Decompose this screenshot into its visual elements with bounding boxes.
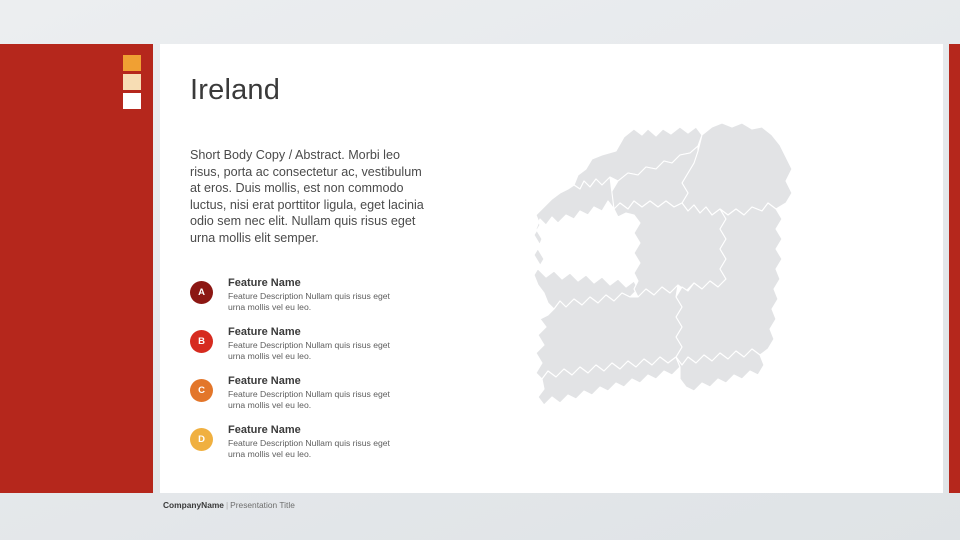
content-card: Ireland Short Body Copy / Abstract. Morb…	[160, 44, 943, 493]
footer-separator: |	[226, 500, 228, 510]
feature-description: Feature Description Nullam quis risus eg…	[228, 340, 408, 363]
page-title: Ireland	[190, 74, 280, 107]
feature-name: Feature Name	[228, 325, 440, 340]
list-item[interactable]: D Feature Name Feature Description Nulla…	[190, 423, 440, 462]
feature-badge-b: B	[190, 330, 213, 353]
presentation-slide: Ireland Short Body Copy / Abstract. Morb…	[0, 0, 960, 540]
feature-name: Feature Name	[228, 276, 440, 291]
feature-text: Feature Name Feature Description Nullam …	[228, 374, 440, 412]
feature-name: Feature Name	[228, 423, 440, 438]
feature-text: Feature Name Feature Description Nullam …	[228, 276, 440, 314]
body-copy: Short Body Copy / Abstract. Morbi leo ri…	[190, 147, 428, 247]
ireland-map[interactable]	[530, 89, 820, 434]
feature-badge-d: D	[190, 428, 213, 451]
footer-presentation-title: Presentation Title	[230, 500, 295, 510]
accent-swatch-stack	[123, 55, 141, 112]
list-item[interactable]: B Feature Name Feature Description Nulla…	[190, 325, 440, 364]
list-item[interactable]: C Feature Name Feature Description Nulla…	[190, 374, 440, 413]
feature-list: A Feature Name Feature Description Nulla…	[190, 276, 440, 472]
feature-description: Feature Description Nullam quis risus eg…	[228, 438, 408, 461]
footer: CompanyName|Presentation Title	[163, 500, 295, 510]
feature-description: Feature Description Nullam quis risus eg…	[228, 389, 408, 412]
accent-swatch-peach	[123, 74, 141, 90]
accent-swatch-orange	[123, 55, 141, 71]
feature-name: Feature Name	[228, 374, 440, 389]
feature-text: Feature Name Feature Description Nullam …	[228, 325, 440, 363]
feature-badge-a: A	[190, 281, 213, 304]
feature-text: Feature Name Feature Description Nullam …	[228, 423, 440, 461]
feature-badge-c: C	[190, 379, 213, 402]
feature-description: Feature Description Nullam quis risus eg…	[228, 291, 408, 314]
footer-company-name: CompanyName	[163, 500, 224, 510]
right-red-strip	[949, 44, 960, 493]
accent-swatch-white	[123, 93, 141, 109]
list-item[interactable]: A Feature Name Feature Description Nulla…	[190, 276, 440, 315]
